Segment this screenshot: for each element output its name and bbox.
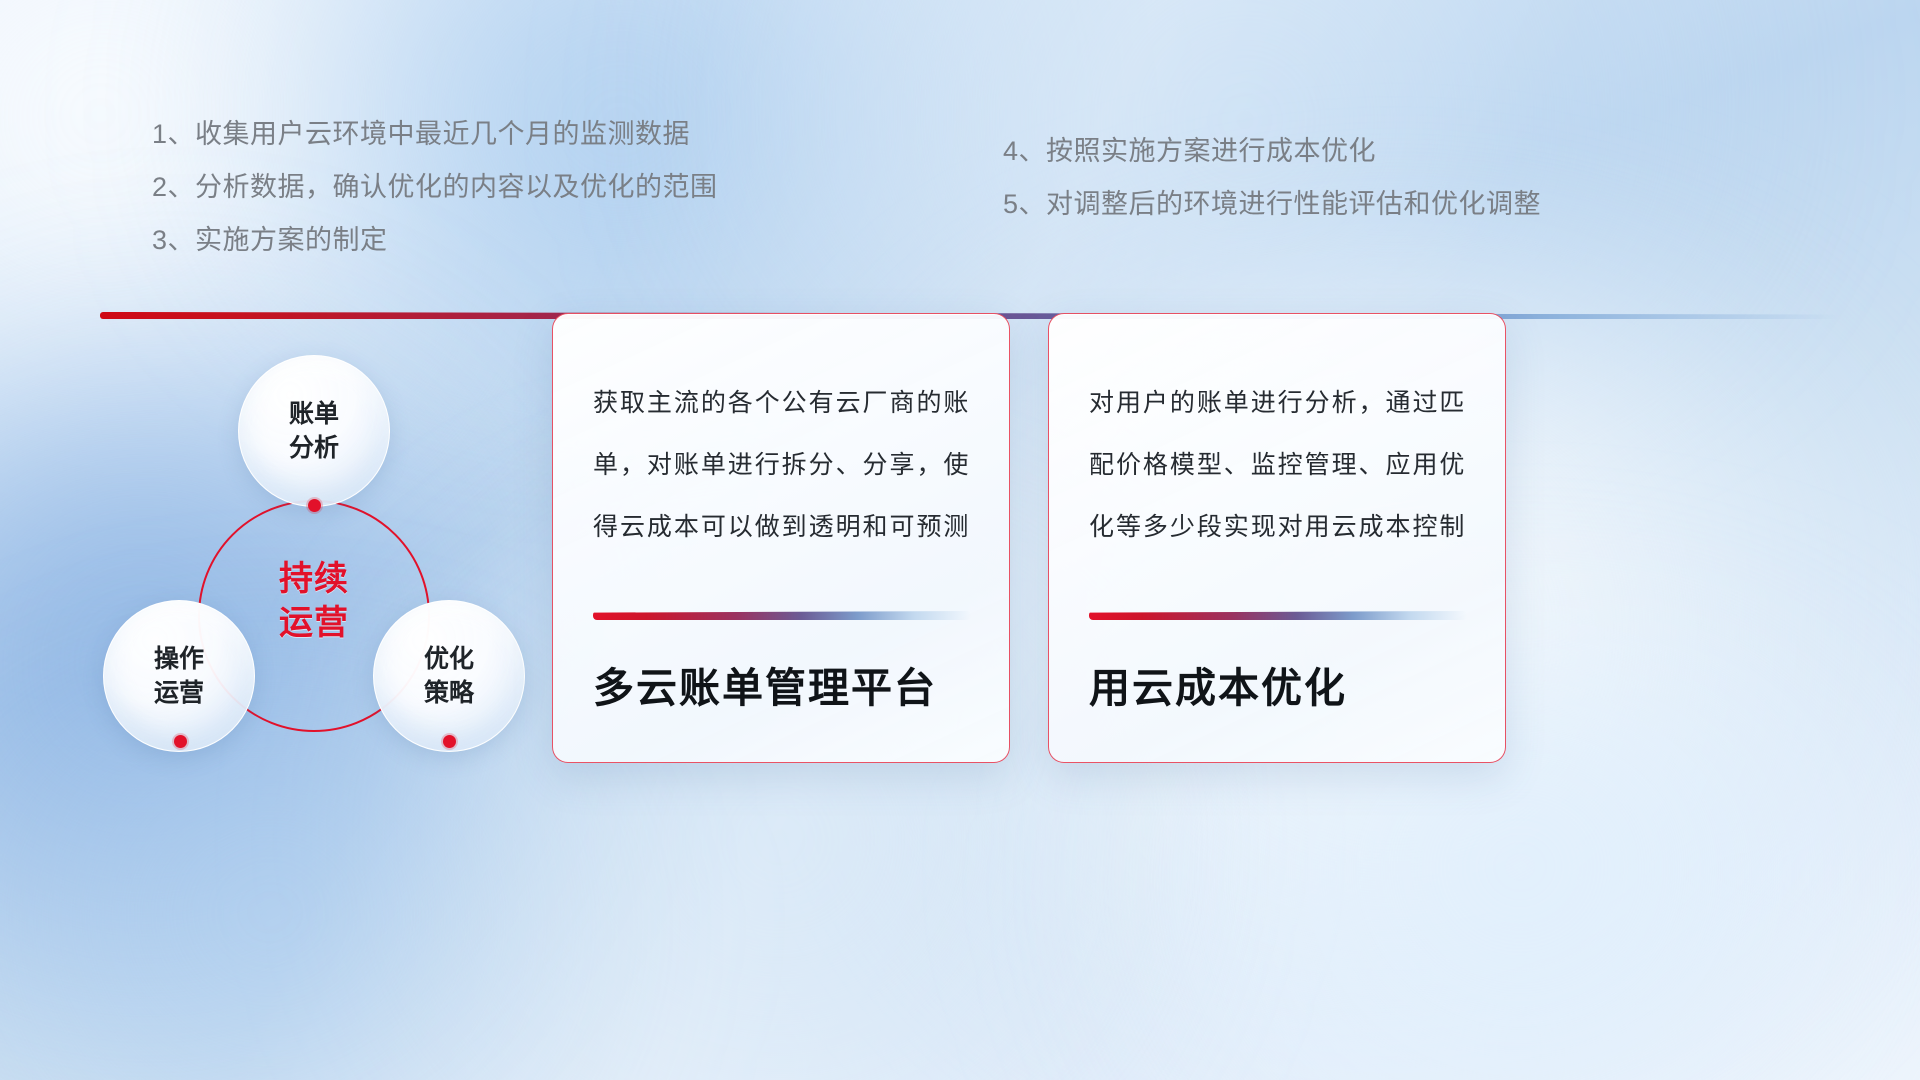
feature-card-cloud-cost-optimization[interactable]: 对用户的账单进行分析，通过匹配价格模型、监控管理、应用优化等多少段实现对用云成本… [1048,313,1506,763]
feature-card-multicloud-billing-title: 多云账单管理平台 [593,620,969,762]
feature-card-multicloud-billing-body: 获取主流的各个公有云厂商的账单，对账单进行拆分、分享，使得云成本可以做到透明和可… [593,372,969,558]
venn-node-dot-bottom-right [443,735,456,748]
feature-card-cloud-cost-optimization-title: 用云成本优化 [1089,620,1465,762]
venn-diagram: 账单 分析 操作 运营 优化 策略 持续 运营 [90,355,560,775]
process-step-4: 4、按照实施方案进行成本优化 [1003,125,1541,178]
venn-center-label-line1: 持续 [198,557,430,601]
feature-card-cloud-cost-optimization-body: 对用户的账单进行分析，通过匹配价格模型、监控管理、应用优化等多少段实现对用云成本… [1089,372,1465,558]
process-steps-left-column: 1、收集用户云环境中最近几个月的监测数据 2、分析数据，确认优化的内容以及优化的… [152,108,718,267]
venn-bubble-operations-line2: 运营 [154,676,204,710]
process-step-3: 3、实施方案的制定 [152,214,718,267]
venn-bubble-optimization-strategy-line1: 优化 [424,642,474,676]
process-steps-right-column: 4、按照实施方案进行成本优化 5、对调整后的环境进行性能评估和优化调整 [1003,125,1541,231]
venn-center-label: 持续 运营 [198,557,430,645]
venn-bubble-billing-analysis-line1: 账单 [289,397,339,431]
venn-bubble-billing-analysis-line2: 分析 [289,431,339,465]
process-step-2: 2、分析数据，确认优化的内容以及优化的范围 [152,161,718,214]
venn-center-label-line2: 运营 [198,601,430,645]
venn-node-dot-top [308,499,321,512]
feature-card-multicloud-billing-rule [593,611,971,620]
venn-node-dot-bottom-left [174,735,187,748]
process-step-5: 5、对调整后的环境进行性能评估和优化调整 [1003,178,1541,231]
feature-card-multicloud-billing[interactable]: 获取主流的各个公有云厂商的账单，对账单进行拆分、分享，使得云成本可以做到透明和可… [552,313,1010,763]
venn-bubble-operations-line1: 操作 [154,642,204,676]
feature-card-cloud-cost-optimization-rule [1089,611,1467,620]
venn-bubble-optimization-strategy-line2: 策略 [424,676,474,710]
process-step-1: 1、收集用户云环境中最近几个月的监测数据 [152,108,718,161]
process-steps-section: 1、收集用户云环境中最近几个月的监测数据 2、分析数据，确认优化的内容以及优化的… [0,0,1920,260]
venn-bubble-billing-analysis[interactable]: 账单 分析 [238,355,390,507]
